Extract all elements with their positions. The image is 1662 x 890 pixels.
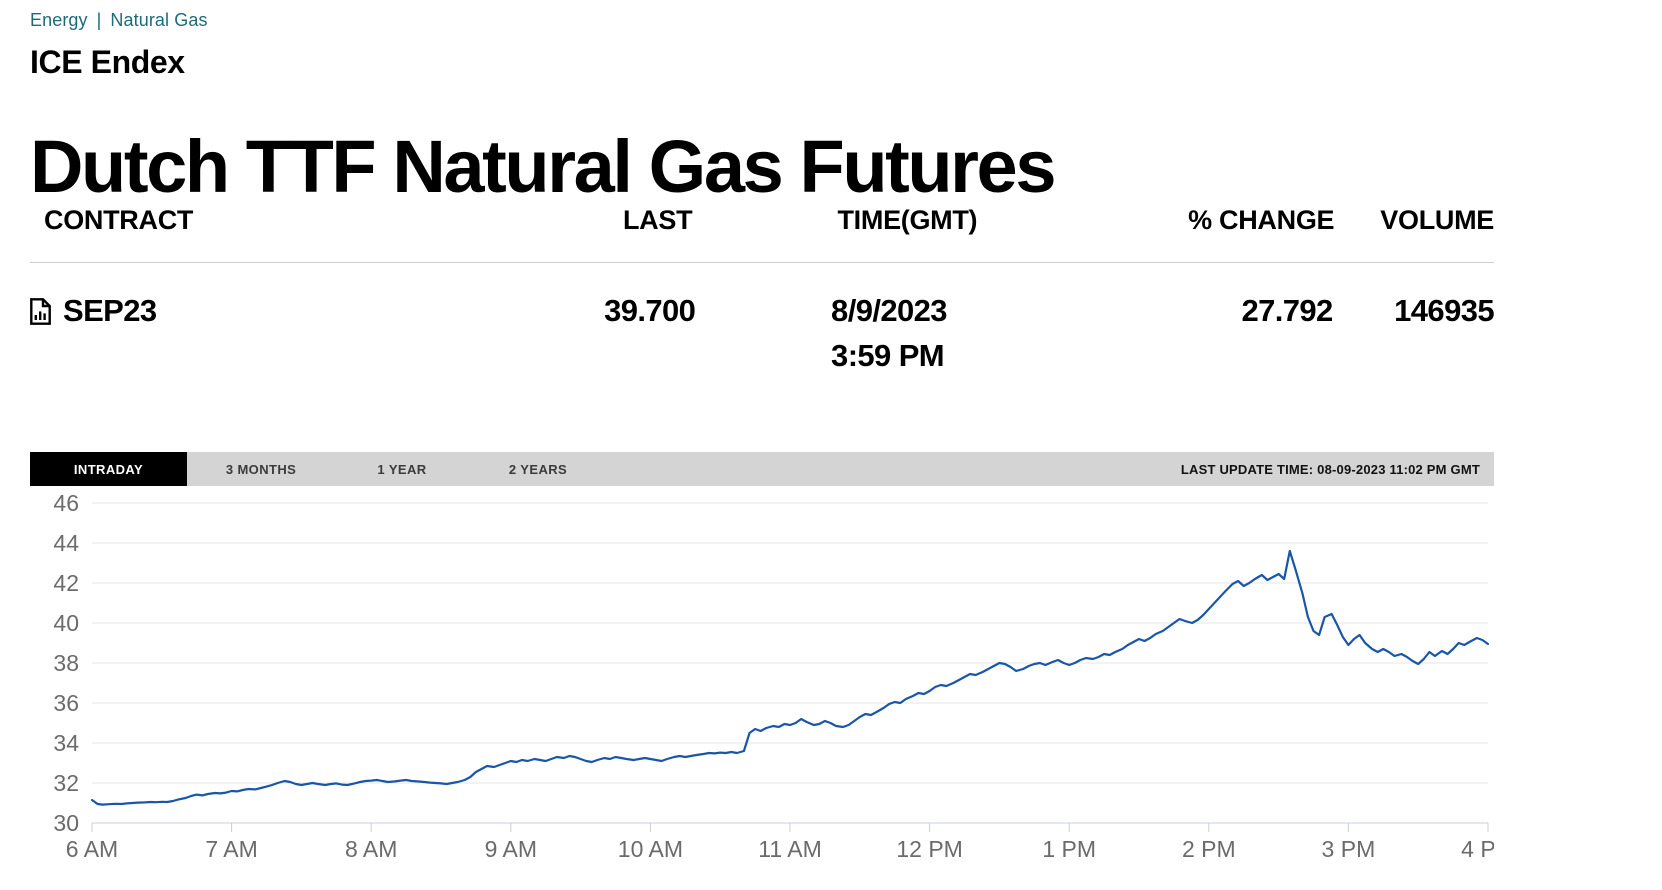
svg-text:9 AM: 9 AM bbox=[485, 836, 537, 862]
cell-volume: 146935 bbox=[1333, 289, 1494, 334]
tab-1-year[interactable]: 1 YEAR bbox=[335, 452, 469, 486]
chart-x-axis-ticks bbox=[92, 823, 1488, 832]
svg-text:11 AM: 11 AM bbox=[758, 836, 822, 862]
time-date: 8/9/2023 bbox=[831, 293, 947, 328]
time-clock: 3:59 PM bbox=[831, 334, 1126, 379]
column-header-last: LAST bbox=[502, 205, 814, 236]
tab-2-years[interactable]: 2 YEARS bbox=[469, 452, 607, 486]
svg-text:7 AM: 7 AM bbox=[205, 836, 257, 862]
svg-text:32: 32 bbox=[53, 770, 79, 796]
cell-last-price: 39.700 bbox=[492, 289, 807, 334]
column-header-contract: CONTRACT bbox=[30, 205, 502, 236]
svg-text:6 AM: 6 AM bbox=[66, 836, 118, 862]
tab-3-months[interactable]: 3 MONTHS bbox=[187, 452, 335, 486]
svg-text:46: 46 bbox=[53, 490, 79, 516]
svg-text:8 AM: 8 AM bbox=[345, 836, 397, 862]
document-chart-icon bbox=[30, 298, 51, 325]
series-line-sep23 bbox=[92, 551, 1488, 805]
svg-text:44: 44 bbox=[53, 530, 79, 556]
page-root: Energy | Natural Gas ICE Endex Dutch TTF… bbox=[0, 0, 1662, 890]
tab-intraday[interactable]: INTRADAY bbox=[30, 452, 187, 486]
chart-gridlines bbox=[92, 503, 1488, 823]
svg-text:40: 40 bbox=[53, 610, 79, 636]
svg-text:3 PM: 3 PM bbox=[1322, 836, 1376, 862]
breadcrumb-separator: | bbox=[97, 10, 102, 31]
svg-text:2 PM: 2 PM bbox=[1182, 836, 1236, 862]
svg-text:34: 34 bbox=[53, 730, 79, 756]
last-update-time: LAST UPDATE TIME: 08-09-2023 11:02 PM GM… bbox=[1181, 452, 1494, 486]
cell-percent-change: 27.792 bbox=[1126, 289, 1333, 334]
svg-text:4 PM: 4 PM bbox=[1461, 836, 1494, 862]
cell-contract[interactable]: SEP23 bbox=[30, 289, 492, 334]
svg-text:1 PM: 1 PM bbox=[1042, 836, 1096, 862]
contract-label: SEP23 bbox=[63, 289, 157, 334]
table-row[interactable]: SEP23 39.700 8/9/2023 3:59 PM 27.792 146… bbox=[30, 263, 1494, 379]
svg-text:42: 42 bbox=[53, 570, 79, 596]
column-header-percent-change: % CHANGE bbox=[1130, 205, 1335, 236]
chart-y-axis-labels: 303234363840424446 bbox=[53, 490, 79, 836]
chart-x-axis-labels: 6 AM7 AM8 AM9 AM10 AM11 AM12 PM1 PM2 PM3… bbox=[66, 836, 1494, 862]
column-header-time: TIME(GMT) bbox=[813, 205, 1129, 236]
svg-text:30: 30 bbox=[53, 810, 79, 836]
quote-table: CONTRACT LAST TIME(GMT) % CHANGE VOLUME … bbox=[30, 205, 1494, 379]
chart-range-tabs: INTRADAY 3 MONTHS 1 YEAR 2 YEARS LAST UP… bbox=[30, 452, 1494, 486]
breadcrumb: Energy | Natural Gas bbox=[30, 10, 208, 31]
price-chart-svg[interactable]: 303234363840424446 6 AM7 AM8 AM9 AM10 AM… bbox=[30, 486, 1494, 886]
cell-time: 8/9/2023 3:59 PM bbox=[807, 289, 1126, 379]
svg-text:36: 36 bbox=[53, 690, 79, 716]
price-chart[interactable]: 303234363840424446 6 AM7 AM8 AM9 AM10 AM… bbox=[30, 486, 1494, 886]
breadcrumb-link-energy[interactable]: Energy bbox=[30, 10, 88, 31]
svg-text:38: 38 bbox=[53, 650, 79, 676]
page-title: Dutch TTF Natural Gas Futures bbox=[30, 128, 1054, 206]
exchange-name: ICE Endex bbox=[30, 44, 185, 81]
quote-table-header: CONTRACT LAST TIME(GMT) % CHANGE VOLUME bbox=[30, 205, 1494, 262]
svg-text:10 AM: 10 AM bbox=[618, 836, 683, 862]
column-header-volume: VOLUME bbox=[1334, 205, 1494, 236]
svg-text:12 PM: 12 PM bbox=[896, 836, 962, 862]
breadcrumb-link-natural-gas[interactable]: Natural Gas bbox=[110, 10, 207, 31]
